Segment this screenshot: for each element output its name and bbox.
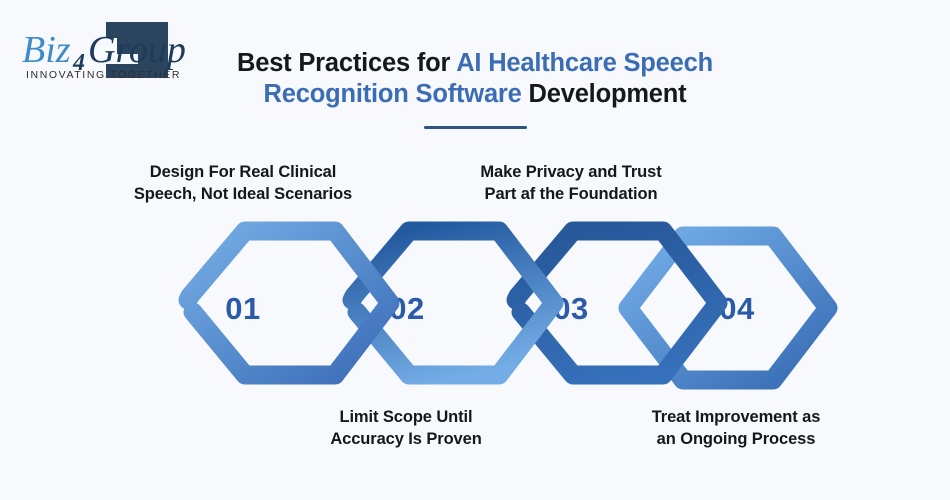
title-suffix: Development (522, 80, 687, 108)
hexagon-number-1: 01 (225, 291, 260, 326)
step-caption-4-line2: an Ongoing Process (602, 429, 870, 451)
hexagon-number-4: 04 (719, 291, 755, 326)
step-caption-2-line2: Accuracy Is Proven (272, 429, 540, 451)
hexagon-step-3[interactable]: 03 (516, 231, 718, 375)
hexagon-outline-2 (352, 231, 554, 375)
step-caption-1-line2: Speech, Not Ideal Scenarios (108, 184, 378, 206)
title-divider (424, 126, 527, 129)
hexagon-number-2: 02 (389, 291, 424, 326)
step-caption-3-line1: Make Privacy and Trust (437, 162, 705, 184)
step-caption-3: Make Privacy and Trust Part af the Found… (437, 162, 705, 205)
step-caption-4-line1: Treat Improvement as (602, 407, 870, 429)
step-caption-1: Design For Real Clinical Speech, Not Ide… (108, 162, 378, 205)
title-block: Best Practices for AI Healthcare Speech … (195, 48, 755, 129)
step-caption-2-line1: Limit Scope Until (272, 407, 540, 429)
title-prefix: Best Practices for (237, 49, 456, 77)
hexagon-outline-1 (188, 231, 390, 375)
hexagon-number-3: 03 (553, 291, 588, 326)
logo-wordmark-group: Group (88, 29, 186, 71)
step-caption-3-line2: Part af the Foundation (437, 184, 705, 206)
hexagon-step-2[interactable]: 02 (352, 231, 554, 375)
step-caption-4: Treat Improvement as an Ongoing Process (602, 407, 870, 450)
hexagon-outline-4 (628, 236, 828, 380)
logo-wordmark-biz: Biz (22, 29, 71, 71)
hexagon-step-4[interactable]: 04 (628, 236, 828, 380)
page-title: Best Practices for AI Healthcare Speech … (195, 48, 755, 110)
logo-tagline: INNOVATING TOGETHER (26, 69, 181, 81)
hexagon-step-1[interactable]: 01 (188, 231, 390, 375)
hexagon-outline-3 (516, 231, 718, 375)
step-caption-1-line1: Design For Real Clinical (108, 162, 378, 184)
step-caption-2: Limit Scope Until Accuracy Is Proven (272, 407, 540, 450)
